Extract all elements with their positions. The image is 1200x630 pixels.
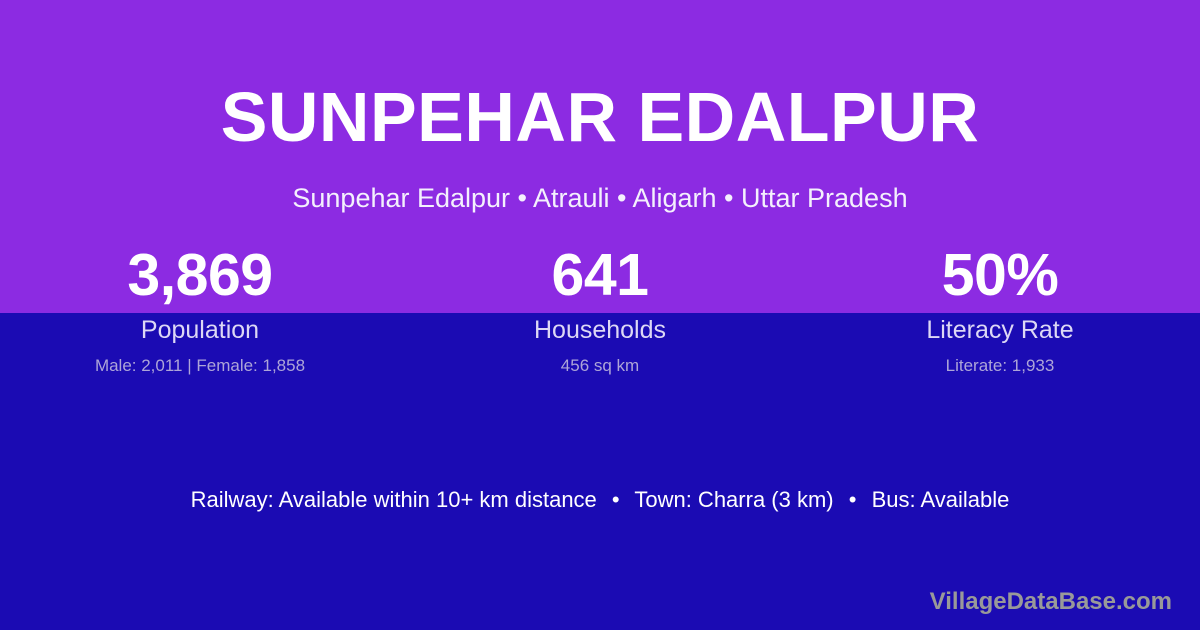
stat-label: Population (0, 317, 400, 345)
stat-value: 50% (800, 246, 1200, 305)
amenity-town: Town: Charra (3 km) (634, 487, 833, 512)
amenity-separator: • (603, 487, 629, 513)
stat-label: Households (400, 317, 800, 345)
page-title: SUNPEHAR EDALPUR (0, 82, 1200, 152)
stat-sublabel: 456 sq km (400, 357, 800, 376)
amenities-row: Railway: Available within 10+ km distanc… (0, 487, 1200, 513)
amenity-bus: Bus: Available (872, 487, 1010, 512)
stat-literacy-rate: 50% Literacy Rate Literate: 1,933 (800, 246, 1200, 375)
stat-label: Literacy Rate (800, 317, 1200, 345)
amenity-separator: • (840, 487, 866, 513)
stat-value: 3,869 (0, 246, 400, 305)
stat-sublabel: Male: 2,011 | Female: 1,858 (0, 357, 400, 376)
stats-row: 3,869 Population Male: 2,011 | Female: 1… (0, 246, 1200, 375)
village-info-card: SUNPEHAR EDALPUR Sunpehar Edalpur • Atra… (0, 0, 1200, 630)
stat-population: 3,869 Population Male: 2,011 | Female: 1… (0, 246, 400, 375)
site-branding: VillageDataBase.com (930, 589, 1172, 615)
card-content: SUNPEHAR EDALPUR Sunpehar Edalpur • Atra… (0, 0, 1200, 630)
breadcrumb: Sunpehar Edalpur • Atrauli • Aligarh • U… (0, 182, 1200, 214)
stat-sublabel: Literate: 1,933 (800, 357, 1200, 376)
stat-value: 641 (400, 246, 800, 305)
stat-households: 641 Households 456 sq km (400, 246, 800, 375)
amenity-railway: Railway: Available within 10+ km distanc… (191, 487, 597, 512)
